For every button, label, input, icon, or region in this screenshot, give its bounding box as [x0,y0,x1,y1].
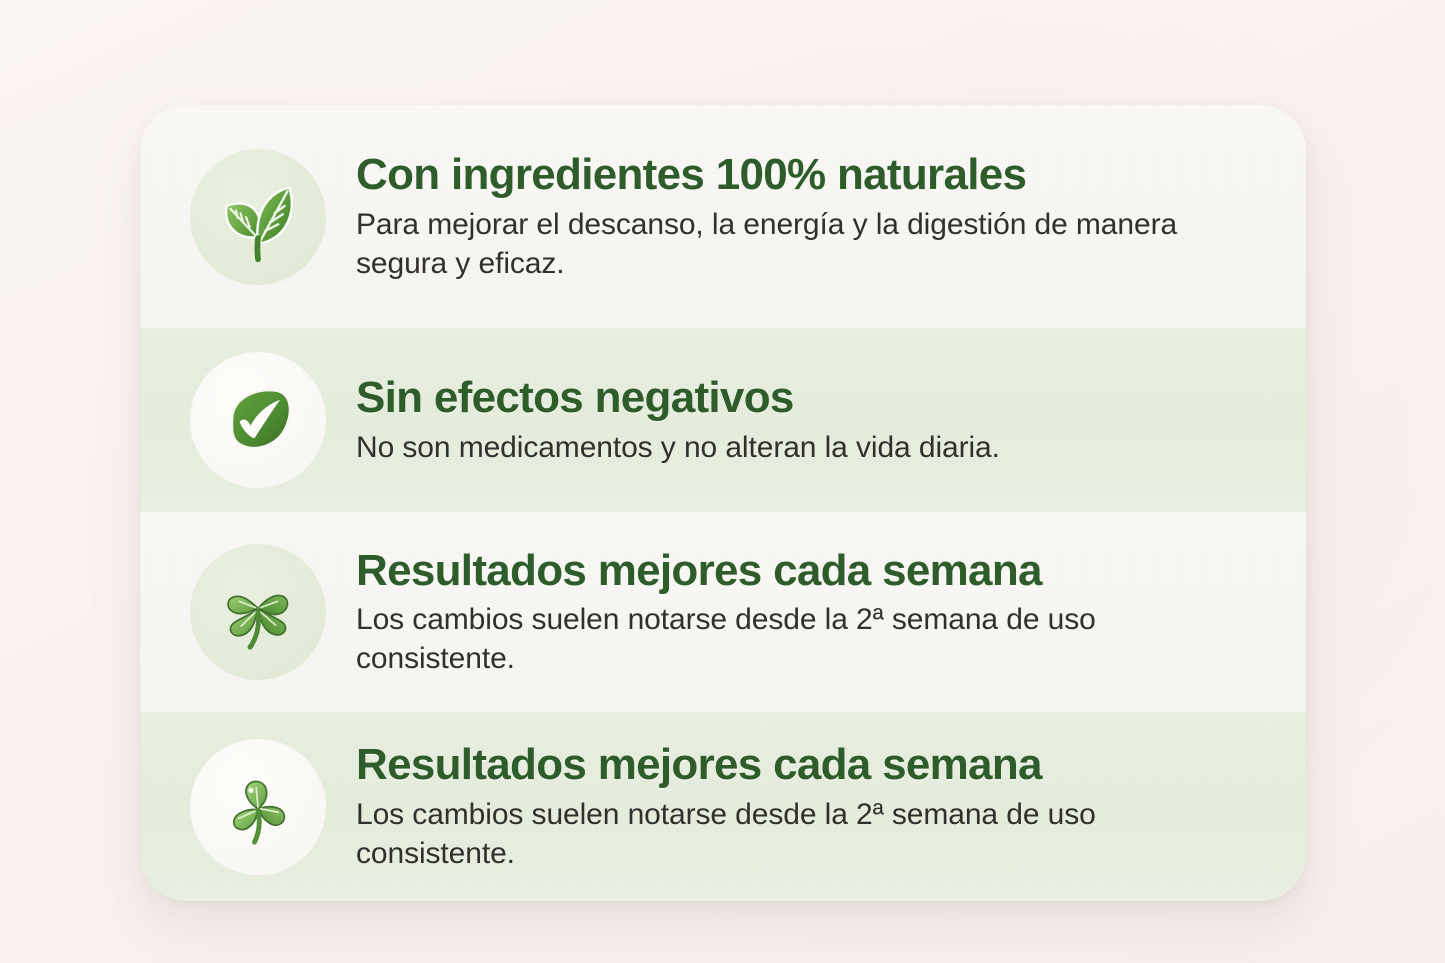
four-leaf-clover-icon-badge [190,544,326,680]
benefit-description: Los cambios suelen notarse desde la 2ª s… [356,600,1216,678]
benefit-text-block: Con ingredientes 100% naturales Para mej… [326,150,1256,282]
benefit-description: Los cambios suelen notarse desde la 2ª s… [356,795,1216,873]
four-leaf-clover-icon [214,568,302,656]
leaf-check-icon-badge [190,352,326,488]
benefit-headline: Resultados mejores cada semana [356,546,1216,595]
leaf-icon [212,171,304,263]
benefit-headline: Sin efectos negativos [356,373,1000,422]
benefit-text-block: Resultados mejores cada semana Los cambi… [326,740,1256,872]
leaf-check-icon [212,374,304,466]
benefit-description: No son medicamentos y no alteran la vida… [356,428,1000,467]
benefits-card: Con ingredientes 100% naturales Para mej… [140,105,1306,901]
benefit-description: Para mejorar el descanso, la energía y l… [356,205,1216,283]
benefit-row-weekly-results-1: Resultados mejores cada semana Los cambi… [140,512,1306,712]
benefit-text-block: Resultados mejores cada semana Los cambi… [326,546,1256,678]
shamrock-icon [214,763,302,851]
benefit-headline: Con ingredientes 100% naturales [356,150,1216,199]
benefit-row-no-side-effects: Sin efectos negativos No son medicamento… [140,328,1306,512]
benefit-text-block: Sin efectos negativos No son medicamento… [326,373,1040,466]
shamrock-icon-badge [190,739,326,875]
benefit-row-weekly-results-2: Resultados mejores cada semana Los cambi… [140,712,1306,901]
leaf-icon-badge [190,149,326,285]
benefit-row-natural-ingredients: Con ingredientes 100% naturales Para mej… [140,105,1306,328]
benefit-headline: Resultados mejores cada semana [356,740,1216,789]
